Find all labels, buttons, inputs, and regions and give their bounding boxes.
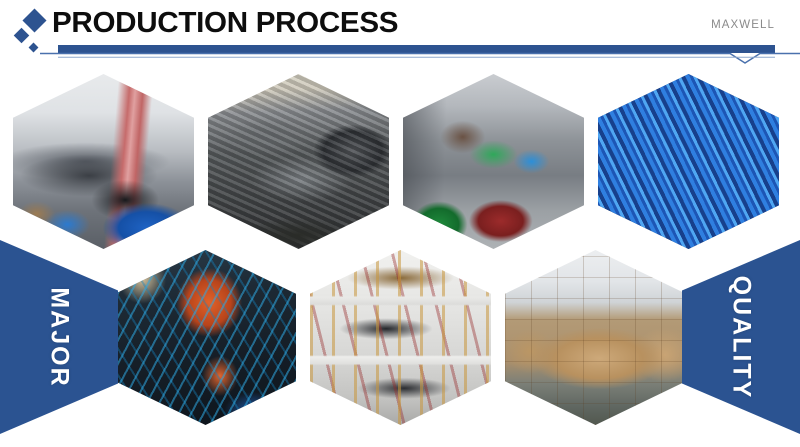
process-gallery bbox=[0, 0, 800, 447]
photo-fabric-rolls bbox=[208, 74, 389, 249]
side-panel-quality-label: QUALITY bbox=[727, 275, 756, 399]
photo-black-bags bbox=[115, 250, 296, 425]
process-photo-hex-3[interactable] bbox=[403, 74, 584, 249]
process-photo-hex-6[interactable] bbox=[310, 250, 491, 425]
photo-shelved-stools bbox=[310, 250, 491, 425]
photo-sewing-workshop bbox=[13, 74, 194, 249]
process-photo-hex-4[interactable] bbox=[598, 74, 779, 249]
process-photo-hex-1[interactable] bbox=[13, 74, 194, 249]
process-photo-hex-5[interactable] bbox=[115, 250, 296, 425]
photo-blue-poles bbox=[598, 74, 779, 249]
photo-warehouse-cartons bbox=[505, 250, 686, 425]
photo-assembly-line bbox=[403, 74, 584, 249]
process-photo-hex-2[interactable] bbox=[208, 74, 389, 249]
process-photo-hex-7[interactable] bbox=[505, 250, 686, 425]
side-panel-major-label: MAJOR bbox=[44, 287, 73, 387]
